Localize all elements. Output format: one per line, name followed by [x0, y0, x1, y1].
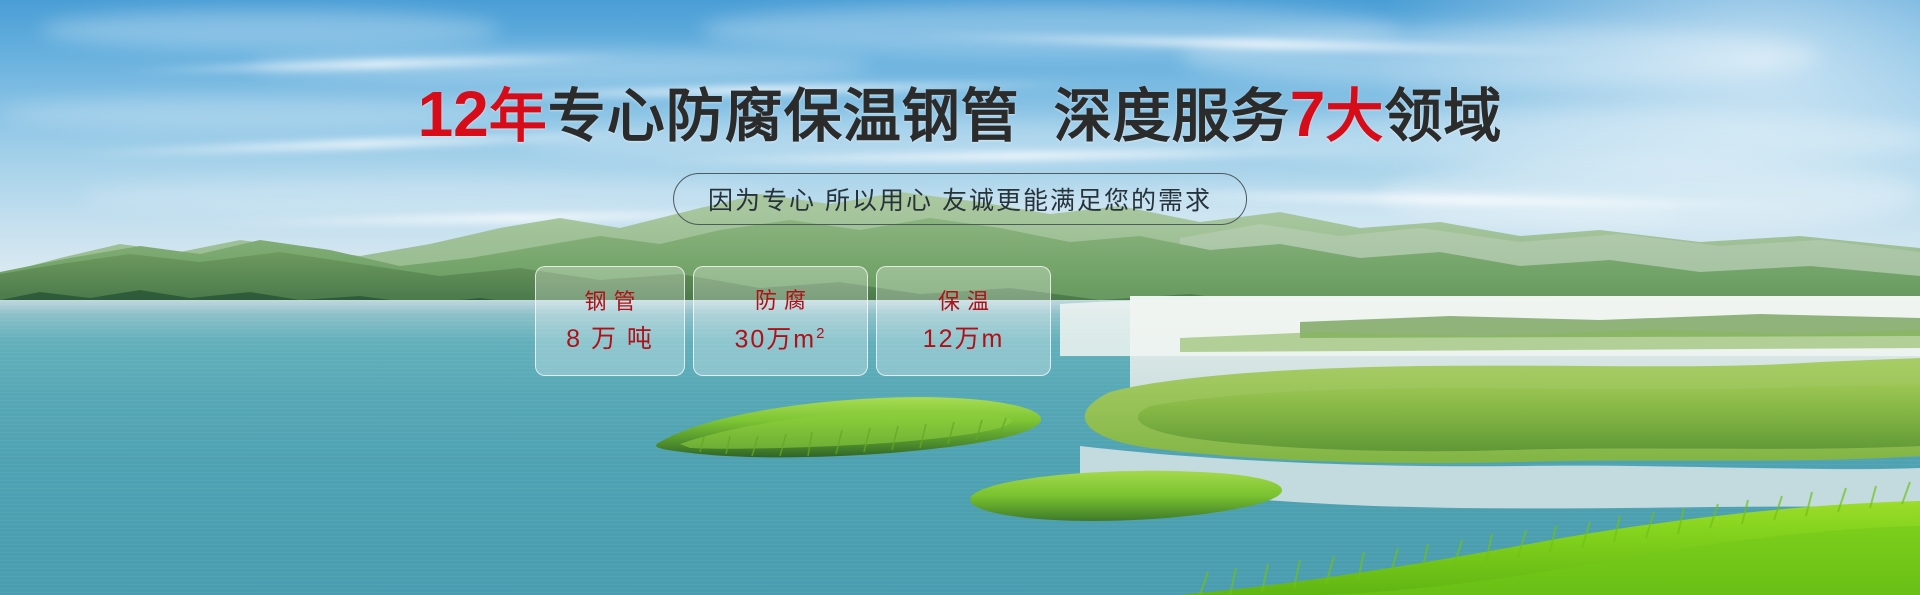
headline-main: 专心防腐保温钢管: [548, 84, 1020, 149]
stat-card-value: 30万m2: [735, 326, 827, 352]
subtitle-text: 因为专心 所以用心 友诚更能满足您的需求: [708, 181, 1212, 217]
stat-card-value-text: 30万m: [735, 325, 817, 353]
stat-card-value-superscript: 2: [816, 325, 826, 342]
subtitle-pill: 因为专心 所以用心 友诚更能满足您的需求: [673, 173, 1247, 225]
cloud-wisp: [1180, 26, 1820, 86]
page-title: 12年专心防腐保温钢管深度服务7大领域: [0, 82, 1920, 146]
promo-banner: 12年专心防腐保温钢管深度服务7大领域 因为专心 所以用心 友诚更能满足您的需求…: [0, 0, 1920, 595]
stat-card-label: 钢管: [577, 291, 642, 313]
stat-card-value-text: 8 万 吨: [566, 325, 654, 353]
cloud-wisp: [40, 10, 500, 50]
left-shore-grass: [0, 455, 1920, 595]
stat-card-insulation[interactable]: 保温 12万m: [876, 266, 1051, 376]
headline-years-number: 12: [418, 78, 489, 150]
stat-card-steel-pipe[interactable]: 钢管 8 万 吨: [535, 266, 685, 376]
center-grass-island: [0, 386, 1920, 466]
headline-fields-number: 7: [1290, 78, 1326, 150]
stat-card-value-text: 12万m: [923, 325, 1005, 353]
stat-card-value: 12万m: [923, 327, 1005, 352]
stat-card-group: 钢管 8 万 吨 防腐 30万m2 保温 12万m: [535, 266, 1051, 376]
stat-card-label: 保温: [931, 291, 996, 313]
stat-card-value: 8 万 吨: [566, 327, 654, 352]
headline-fields-unit: 大: [1325, 84, 1384, 149]
headline-tail: 领域: [1384, 84, 1502, 149]
headline-second: 深度服务: [1054, 84, 1290, 149]
headline-years-unit: 年: [489, 84, 548, 149]
stat-card-anticorrosion[interactable]: 防腐 30万m2: [693, 266, 868, 376]
stat-card-label: 防腐: [748, 290, 813, 312]
